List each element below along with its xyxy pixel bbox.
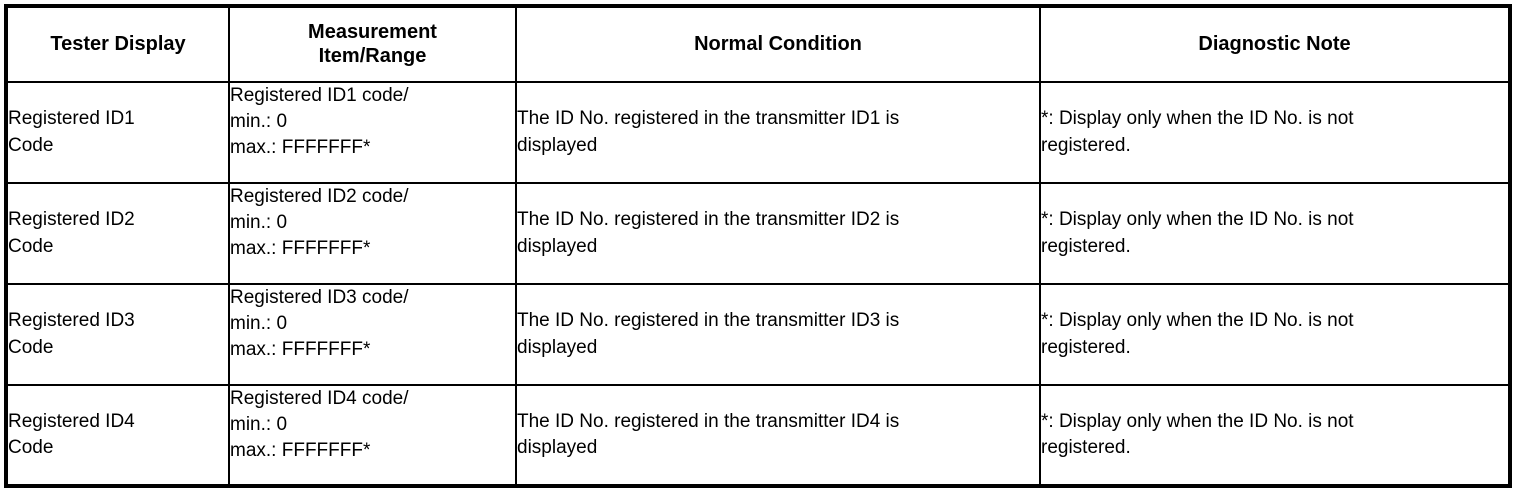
measurement-line1: Registered ID4 code/ — [230, 386, 515, 412]
measurement-line1: Registered ID2 code/ — [230, 184, 515, 210]
normal-condition-line1: The ID No. registered in the transmitter… — [517, 106, 1039, 132]
cell-tester-display: Registered ID3 Code — [6, 284, 229, 385]
cell-diagnostic-note: *: Display only when the ID No. is not r… — [1040, 385, 1510, 486]
measurement-line1: Registered ID1 code/ — [230, 83, 515, 109]
cell-measurement-item-range: Registered ID4 code/ min.: 0 max.: FFFFF… — [229, 385, 516, 486]
measurement-line3: max.: FFFFFFF* — [230, 135, 515, 161]
column-header-tester-display: Tester Display — [6, 6, 229, 82]
cell-tester-display: Registered ID1 Code — [6, 82, 229, 183]
tester-display-line1: Registered ID3 — [8, 308, 228, 334]
measurement-line2: min.: 0 — [230, 311, 515, 337]
header-label-normal-condition: Normal Condition — [694, 33, 862, 55]
diagnostic-note-line1: *: Display only when the ID No. is not — [1041, 409, 1508, 435]
diagnostic-note-line1: *: Display only when the ID No. is not — [1041, 308, 1508, 334]
cell-measurement-item-range: Registered ID1 code/ min.: 0 max.: FFFFF… — [229, 82, 516, 183]
normal-condition-line2: displayed — [517, 435, 1039, 461]
cell-diagnostic-note: *: Display only when the ID No. is not r… — [1040, 82, 1510, 183]
diagnostic-note-line2: registered. — [1041, 335, 1508, 361]
column-header-diagnostic-note: Diagnostic Note — [1040, 6, 1510, 82]
table-header: Tester Display Measurement Item/Range No… — [6, 6, 1510, 82]
normal-condition-line1: The ID No. registered in the transmitter… — [517, 308, 1039, 334]
measurement-line3: max.: FFFFFFF* — [230, 337, 515, 363]
cell-tester-display: Registered ID4 Code — [6, 385, 229, 486]
cell-normal-condition: The ID No. registered in the transmitter… — [516, 284, 1040, 385]
normal-condition-line2: displayed — [517, 234, 1039, 260]
table-row: Registered ID1 Code Registered ID1 code/… — [6, 82, 1510, 183]
specification-table-container: Tester Display Measurement Item/Range No… — [4, 4, 1508, 486]
table-row: Registered ID2 Code Registered ID2 code/… — [6, 183, 1510, 284]
column-header-normal-condition: Normal Condition — [516, 6, 1040, 82]
cell-measurement-item-range: Registered ID3 code/ min.: 0 max.: FFFFF… — [229, 284, 516, 385]
cell-diagnostic-note: *: Display only when the ID No. is not r… — [1040, 284, 1510, 385]
diagnostic-note-line1: *: Display only when the ID No. is not — [1041, 106, 1508, 132]
measurement-line2: min.: 0 — [230, 109, 515, 135]
normal-condition-line2: displayed — [517, 133, 1039, 159]
header-label-measurement-line2: Item/Range — [319, 45, 427, 67]
header-label-measurement-line1: Measurement — [308, 21, 437, 43]
cell-normal-condition: The ID No. registered in the transmitter… — [516, 385, 1040, 486]
cell-normal-condition: The ID No. registered in the transmitter… — [516, 183, 1040, 284]
tester-display-line1: Registered ID1 — [8, 106, 228, 132]
tester-display-line1: Registered ID4 — [8, 409, 228, 435]
tester-display-line1: Registered ID2 — [8, 207, 228, 233]
measurement-line2: min.: 0 — [230, 210, 515, 236]
tester-display-line2: Code — [8, 435, 228, 461]
diagnostic-note-line1: *: Display only when the ID No. is not — [1041, 207, 1508, 233]
normal-condition-line2: displayed — [517, 335, 1039, 361]
diagnostic-note-line2: registered. — [1041, 435, 1508, 461]
diagnostic-note-line2: registered. — [1041, 234, 1508, 260]
normal-condition-line1: The ID No. registered in the transmitter… — [517, 409, 1039, 435]
table-body: Registered ID1 Code Registered ID1 code/… — [6, 82, 1510, 486]
tester-display-specification-table: Tester Display Measurement Item/Range No… — [4, 4, 1512, 488]
measurement-line3: max.: FFFFFFF* — [230, 438, 515, 464]
table-row: Registered ID4 Code Registered ID4 code/… — [6, 385, 1510, 486]
table-row: Registered ID3 Code Registered ID3 code/… — [6, 284, 1510, 385]
tester-display-line2: Code — [8, 335, 228, 361]
header-label-tester-display: Tester Display — [50, 33, 185, 55]
measurement-line3: max.: FFFFFFF* — [230, 236, 515, 262]
measurement-line2: min.: 0 — [230, 412, 515, 438]
cell-normal-condition: The ID No. registered in the transmitter… — [516, 82, 1040, 183]
column-header-measurement-item-range: Measurement Item/Range — [229, 6, 516, 82]
normal-condition-line1: The ID No. registered in the transmitter… — [517, 207, 1039, 233]
header-label-diagnostic-note: Diagnostic Note — [1198, 33, 1350, 55]
cell-tester-display: Registered ID2 Code — [6, 183, 229, 284]
cell-diagnostic-note: *: Display only when the ID No. is not r… — [1040, 183, 1510, 284]
tester-display-line2: Code — [8, 133, 228, 159]
cell-measurement-item-range: Registered ID2 code/ min.: 0 max.: FFFFF… — [229, 183, 516, 284]
tester-display-line2: Code — [8, 234, 228, 260]
diagnostic-note-line2: registered. — [1041, 133, 1508, 159]
header-row: Tester Display Measurement Item/Range No… — [6, 6, 1510, 82]
measurement-line1: Registered ID3 code/ — [230, 285, 515, 311]
